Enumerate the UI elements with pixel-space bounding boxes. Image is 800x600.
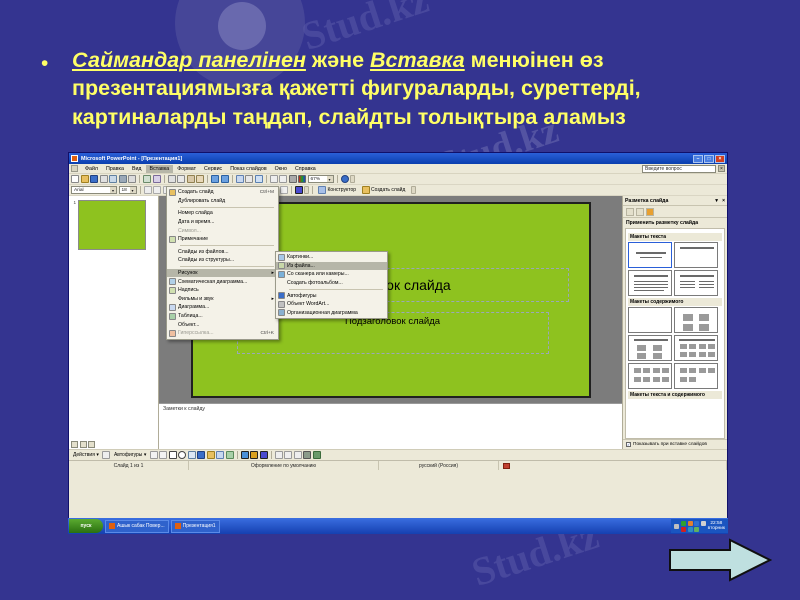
dash-style-icon[interactable] — [284, 451, 292, 459]
standard-toolbar: 67% ▾ — [69, 174, 727, 185]
menu-item[interactable]: Слайды из файлов... — [167, 248, 278, 257]
clock-day: вторник — [708, 526, 725, 531]
menu-item[interactable]: Таблица... — [167, 312, 278, 321]
home-icon[interactable] — [646, 208, 654, 216]
watermark-circle-inner — [218, 2, 266, 50]
menu-item-file[interactable]: Файл — [81, 165, 102, 173]
slide-thumbnail[interactable] — [78, 200, 146, 250]
menu-item-icon-slot — [167, 197, 178, 206]
app-icon[interactable] — [688, 527, 693, 532]
powerpoint-icon — [109, 523, 115, 529]
show-on-insert-checkbox[interactable]: ✓ — [626, 442, 631, 447]
menu-item-label: Рисунок — [178, 270, 265, 276]
menu-item-icon — [169, 287, 176, 294]
powerpoint-icon — [71, 155, 78, 162]
menu-item[interactable]: Дублировать слайд — [167, 197, 278, 206]
menu-bar: Файл Правка Вид Вставка Формат Сервис По… — [69, 164, 727, 174]
permission-icon[interactable] — [100, 175, 108, 183]
new-slide-icon — [362, 186, 370, 194]
wordart-icon[interactable] — [197, 451, 205, 459]
menu-item-icon-slot — [167, 312, 178, 321]
status-design: Оформление по умолчанию — [189, 461, 379, 470]
draw-actions-button[interactable]: Действия ▾ — [71, 452, 101, 458]
arrow-style-icon[interactable] — [294, 451, 302, 459]
menu-item-label: Фильмы и звук — [178, 296, 265, 302]
shadow-style-icon[interactable] — [303, 451, 311, 459]
forward-icon[interactable] — [636, 208, 644, 216]
menu-item-icon-slot — [167, 226, 178, 235]
system-tray: 22:58 вторник — [671, 519, 728, 533]
menu-item[interactable]: Символ... — [167, 226, 278, 235]
security-icon[interactable] — [701, 521, 706, 526]
task-pane-dropdown-icon[interactable]: ▼ — [714, 198, 719, 204]
menu-item-icon-slot — [276, 270, 287, 279]
menu-item-icon — [278, 262, 285, 269]
font-color-icon[interactable] — [260, 451, 268, 459]
menu-item-icon-slot — [276, 279, 287, 288]
font-size-combo[interactable]: 18 ▾ — [119, 186, 137, 194]
text-layouts-group-label: Макеты текста — [628, 233, 722, 241]
menu-item[interactable]: Надпись — [167, 286, 278, 295]
new-slide-button[interactable]: Создать слайд — [360, 186, 408, 194]
next-arrow-button[interactable] — [668, 538, 772, 582]
menu-item[interactable]: Объект... — [167, 320, 278, 329]
oval-icon[interactable] — [178, 451, 186, 459]
menu-item[interactable]: Организационная диаграмма — [276, 309, 387, 318]
menu-item-label: Примечание — [178, 236, 274, 242]
expand-all-icon[interactable] — [270, 175, 278, 183]
task-pane: Разметка слайда ▼ × Применить разметку с… — [622, 196, 727, 449]
task-pane-header: Разметка слайда ▼ × — [623, 196, 727, 206]
menu-item-label: Слайды из структуры... — [178, 257, 274, 263]
undo-icon[interactable] — [211, 175, 219, 183]
taskbar-item[interactable]: Презентация1 — [171, 520, 220, 533]
menu-item-icon-slot — [167, 320, 178, 329]
menu-item[interactable]: Гиперссылка...Ctrl+K — [167, 329, 278, 338]
menu-item-edit[interactable]: Правка — [102, 165, 128, 173]
menu-divider — [180, 245, 274, 246]
rectangle-icon[interactable] — [169, 451, 177, 459]
line1-rest: менюінен өз — [465, 48, 604, 72]
menu-item-icon-slot — [276, 253, 287, 262]
chevron-down-icon[interactable]: ▾ — [110, 187, 116, 193]
color-icon[interactable] — [298, 175, 306, 183]
maximize-button[interactable]: □ — [704, 155, 714, 163]
menu-item-label: Автофигуры — [287, 293, 383, 299]
menu-item-label: Из файла... — [287, 263, 383, 269]
status-language: русский (Россия) — [379, 461, 499, 470]
copy-icon[interactable] — [177, 175, 185, 183]
insert-hyperlink-icon[interactable] — [255, 175, 263, 183]
menu-item-icon — [278, 301, 285, 308]
view-buttons-group — [71, 441, 95, 448]
powerpoint-screenshot: Microsoft PowerPoint - [Презентация1] – … — [68, 152, 728, 534]
menu-item[interactable]: Со сканера или камеры... — [276, 270, 387, 279]
menu-item[interactable]: Схематическая диаграмма... — [167, 277, 278, 286]
slide-sorter-view-icon[interactable] — [80, 441, 87, 448]
menu-item-label: Со сканера или камеры... — [287, 271, 383, 277]
menu-item-icon — [169, 236, 176, 243]
menu-item[interactable]: Создать фотоальбом... — [276, 279, 387, 288]
format-painter-icon[interactable] — [196, 175, 204, 183]
menu-item-label: Организационная диаграмма — [287, 310, 383, 316]
emphasis-toolbar-term: Саймандар панелінен — [72, 48, 306, 72]
menu-item-label: Номер слайда — [178, 210, 274, 216]
menu-item[interactable]: Фильмы и звук▸ — [167, 295, 278, 304]
menu-item[interactable]: Диаграмма... — [167, 303, 278, 312]
start-button[interactable]: пуск — [69, 519, 103, 533]
slide-thumbnail-row[interactable]: 1 — [71, 200, 156, 250]
layout-blank[interactable] — [628, 307, 672, 333]
layout-title-and-text[interactable] — [628, 270, 672, 296]
draw-actions-label: Действия — [73, 452, 95, 458]
task-pane-nav — [623, 206, 727, 218]
arrow-icon[interactable] — [159, 451, 167, 459]
clipart-icon[interactable] — [216, 451, 224, 459]
app-icon[interactable] — [694, 527, 699, 532]
layout-title-and-content[interactable] — [628, 335, 672, 361]
menu-item-icon — [278, 271, 285, 278]
status-spellcheck-icon[interactable] — [499, 461, 727, 470]
emphasis-insert-term: Вставка — [370, 48, 465, 72]
menu-item-icon-slot — [167, 269, 178, 278]
chevron-down-icon[interactable]: ▾ — [130, 187, 136, 193]
task-pane-close-icon[interactable]: × — [722, 198, 725, 204]
menu-item-label: Дата и время... — [178, 219, 274, 225]
text-content-layouts-group-label: Макеты текста и содержимого — [628, 391, 722, 399]
menu-item-icon-slot — [276, 262, 287, 271]
slide-number-label: 1 — [71, 200, 76, 205]
chevron-right-icon: ▸ — [265, 270, 274, 276]
menu-item-icon — [169, 330, 176, 337]
network-icon[interactable] — [681, 521, 686, 526]
select-objects-icon[interactable] — [102, 451, 110, 459]
email-icon[interactable] — [109, 175, 117, 183]
menu-item-icon-slot — [167, 277, 178, 286]
window-titlebar: Microsoft PowerPoint - [Презентация1] – … — [69, 153, 727, 164]
menu-item-label: Картинки... — [287, 254, 383, 260]
menu-item-icon — [278, 254, 285, 261]
taskbar-item-label: Ашык сабак Повер... — [117, 523, 165, 529]
menu-item-icon — [169, 189, 176, 196]
open-icon[interactable] — [81, 175, 89, 183]
help-icon[interactable] — [341, 175, 349, 183]
menu-item-slideshow[interactable]: Показ слайдов — [226, 165, 270, 173]
show-on-insert-label: Показывать при вставке слайдов — [633, 442, 707, 447]
windows-taskbar: пуск Ашык сабак Повер... Презентация1 22… — [68, 518, 728, 534]
menu-divider — [180, 266, 274, 267]
menu-item[interactable]: Из файла... — [276, 262, 387, 271]
menu-item-help[interactable]: Справка — [291, 165, 320, 173]
menu-item-icon-slot — [167, 286, 178, 295]
picture-icon[interactable] — [226, 451, 234, 459]
picture-submenu-dropdown[interactable]: Картинки...Из файла...Со сканера или кам… — [275, 251, 388, 319]
menu-item-label: Создать фотоальбом... — [287, 280, 383, 286]
insert-menu-dropdown[interactable]: Создать слайдCtrl+MДублировать слайдНоме… — [166, 186, 279, 340]
menu-item-icon — [278, 292, 285, 299]
document-icon — [71, 165, 78, 172]
menu-item-icon-slot — [167, 235, 178, 244]
layout-content[interactable] — [674, 307, 718, 333]
font-name-value: Arial — [74, 188, 84, 193]
slide-body-text: Саймандар панелінен және Вставка менюіне… — [38, 46, 768, 131]
menu-item-label: Слайды из файлов... — [178, 249, 274, 255]
minimize-button[interactable]: – — [693, 155, 703, 163]
chevron-down-icon[interactable]: ▾ — [96, 452, 99, 458]
back-icon[interactable] — [626, 208, 634, 216]
apply-layout-label: Применить разметку слайда — [623, 218, 727, 228]
slide-design-label: Конструктор — [328, 187, 357, 193]
menu-item-label: Диаграмма... — [178, 304, 274, 310]
menu-item-icon-slot — [167, 188, 178, 197]
autoshapes-button[interactable]: Автофигуры ▾ — [112, 452, 148, 458]
new-icon[interactable] — [71, 175, 79, 183]
slideshow-view-icon[interactable] — [88, 441, 95, 448]
menu-item-insert[interactable]: Вставка — [146, 165, 174, 173]
menu-item-icon-slot — [167, 218, 178, 227]
slide-line-2: презентациямызға қажетті фигураларды, су… — [72, 74, 768, 102]
redo-icon[interactable] — [221, 175, 229, 183]
show-formatting-icon[interactable] — [279, 175, 287, 183]
menu-item[interactable]: Дата и время... — [167, 218, 278, 227]
menu-divider — [180, 207, 274, 208]
taskbar-clock[interactable]: 22:58 вторник — [708, 521, 725, 532]
increase-indent-icon[interactable] — [280, 186, 288, 194]
slide-line-3: карти­наларды таңдап, слайдты толықтыра … — [72, 103, 768, 131]
new-slide-label: Создать слайд — [371, 187, 405, 193]
taskbar-item-label: Презентация1 — [183, 523, 216, 529]
layout-gallery[interactable]: Макеты текста — [625, 228, 725, 439]
menu-item-icon-slot — [167, 248, 178, 257]
menu-item-icon-slot — [167, 329, 178, 338]
menu-item-label: Надпись — [178, 287, 274, 293]
layout-title-and-two-text[interactable] — [674, 270, 718, 296]
antivirus-icon[interactable] — [681, 527, 686, 532]
menu-item-icon-slot — [167, 256, 178, 265]
menu-item-view[interactable]: Вид — [128, 165, 146, 173]
menu-item-tools[interactable]: Сервис — [200, 165, 226, 173]
font-size-value: 18 — [122, 188, 127, 193]
menu-item-icon — [278, 309, 285, 316]
save-icon[interactable] — [90, 175, 98, 183]
slides-outline-panel[interactable]: 1 — [69, 196, 159, 449]
line-icon[interactable] — [150, 451, 158, 459]
language-bar-icon[interactable] — [674, 524, 679, 529]
normal-view-icon[interactable] — [71, 441, 78, 448]
menu-item-label: Символ... — [178, 228, 274, 234]
ask-a-question-input[interactable]: Введите вопрос — [642, 165, 716, 173]
task-pane-title: Разметка слайда — [625, 198, 668, 204]
bold-icon[interactable] — [144, 186, 152, 194]
menu-item[interactable]: Номер слайда — [167, 209, 278, 218]
print-icon[interactable] — [119, 175, 127, 183]
chevron-down-icon[interactable]: ▾ — [144, 452, 147, 458]
close-button[interactable]: × — [715, 155, 725, 163]
menu-divider — [289, 289, 383, 290]
menu-item-label: Создать слайд — [178, 189, 250, 195]
chevron-right-icon: ▸ — [265, 296, 274, 302]
menu-item-icon-slot — [276, 309, 287, 318]
menu-item[interactable]: Объект WordArt... — [276, 300, 387, 309]
menu-item[interactable]: Рисунок▸ — [167, 269, 278, 278]
spelling-icon[interactable] — [143, 175, 151, 183]
layout-content-four[interactable] — [628, 363, 672, 389]
menu-item-shortcut: Ctrl+M — [250, 190, 274, 195]
menu-item-icon — [169, 313, 176, 320]
grayscale-icon[interactable] — [289, 175, 297, 183]
content-layouts-group-label: Макеты содержимого — [628, 298, 722, 306]
menu-item-icon-slot — [276, 300, 287, 309]
layout-title-slide[interactable] — [628, 242, 672, 268]
menu-item[interactable]: Слайды из структуры... — [167, 256, 278, 265]
menu-item-icon — [169, 278, 176, 285]
line-style-icon[interactable] — [275, 451, 283, 459]
menu-item-label: Объект WordArt... — [287, 301, 383, 307]
toolbar-options-icon[interactable] — [411, 186, 416, 194]
menu-item-shortcut: Ctrl+K — [251, 331, 274, 336]
menu-item-icon-slot — [167, 209, 178, 218]
3d-style-icon[interactable] — [313, 451, 321, 459]
layout-content-six[interactable] — [674, 363, 718, 389]
show-on-insert-row[interactable]: ✓ Показывать при вставке слайдов — [623, 439, 727, 449]
menu-item-icon-slot — [167, 303, 178, 312]
menu-item[interactable]: Автофигуры — [276, 291, 387, 300]
taskbar-item[interactable]: Ашык сабак Повер... — [105, 520, 169, 533]
menu-item-icon-slot — [276, 291, 287, 300]
notes-pane[interactable]: Заметки к слайду — [159, 403, 622, 449]
zoom-combo[interactable]: 67% ▾ — [308, 175, 334, 183]
menu-item-label: Таблица... — [178, 313, 274, 319]
research-icon[interactable] — [153, 175, 161, 183]
fill-color-icon[interactable] — [241, 451, 249, 459]
paste-icon[interactable] — [187, 175, 195, 183]
menu-item-icon — [169, 304, 176, 311]
volume-icon[interactable] — [688, 521, 693, 526]
insert-table-icon[interactable] — [245, 175, 253, 183]
layout-title-only[interactable] — [674, 242, 718, 268]
zoom-value: 67% — [311, 177, 321, 182]
layout-title-and-two-content[interactable] — [674, 335, 718, 361]
powerpoint-icon — [175, 523, 181, 529]
print-preview-icon[interactable] — [128, 175, 136, 183]
close-document-icon[interactable]: × — [718, 165, 725, 172]
menu-item-label: Объект... — [178, 322, 274, 328]
slide-design-button[interactable]: Конструктор — [316, 186, 358, 194]
drawing-toolbar: Действия ▾ Автофигуры ▾ — [69, 449, 727, 460]
status-slide-counter: Слайд 1 из 1 — [69, 461, 189, 470]
diagram-icon[interactable] — [207, 451, 215, 459]
menu-item-format[interactable]: Формат — [173, 165, 200, 173]
menu-item-icon-slot — [167, 295, 178, 304]
menu-item[interactable]: Создать слайдCtrl+M — [167, 188, 278, 197]
autoshapes-label: Автофигуры — [114, 452, 142, 458]
toolbar-options-icon[interactable] — [350, 175, 355, 183]
update-icon[interactable] — [694, 521, 699, 526]
italic-icon[interactable] — [153, 186, 161, 194]
window-title: Microsoft PowerPoint - [Презентация1] — [81, 156, 182, 162]
menu-item[interactable]: Картинки... — [276, 253, 387, 262]
chevron-down-icon[interactable] — [304, 186, 309, 194]
menu-item-label: Гиперссылка... — [178, 330, 251, 336]
chevron-down-icon[interactable]: ▾ — [327, 176, 333, 182]
conjunction-text: және — [306, 48, 370, 72]
design-icon — [318, 186, 326, 194]
menu-item-window[interactable]: Окно — [271, 165, 291, 173]
font-color-icon[interactable] — [295, 186, 303, 194]
font-name-combo[interactable]: Arial ▾ — [71, 186, 117, 194]
status-bar: Слайд 1 из 1 Оформление по умолчанию рус… — [69, 460, 727, 470]
text-box-icon[interactable] — [188, 451, 196, 459]
menu-item[interactable]: Примечание — [167, 235, 278, 244]
menu-item-label: Дублировать слайд — [178, 198, 274, 204]
cut-icon[interactable] — [168, 175, 176, 183]
line-color-icon[interactable] — [250, 451, 258, 459]
insert-chart-icon[interactable] — [236, 175, 244, 183]
menu-item-label: Схематическая диаграмма... — [178, 279, 274, 285]
